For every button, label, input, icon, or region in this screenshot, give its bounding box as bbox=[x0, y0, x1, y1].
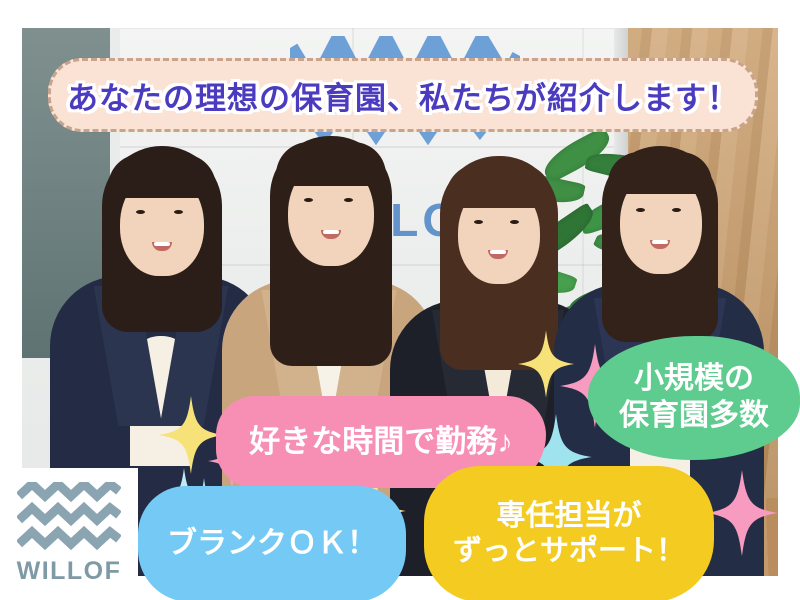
bubble-dedicated-support-line-2: ずっとサポート！ bbox=[453, 534, 685, 569]
person-2-eye bbox=[344, 198, 353, 202]
person-3-eye bbox=[474, 220, 483, 224]
person-3-bangs bbox=[446, 164, 552, 208]
brand-logo-text: WILLOF bbox=[17, 557, 122, 586]
bubble-blank-ok[interactable]: ブランクＯＫ！ bbox=[138, 486, 406, 600]
person-2-bangs bbox=[276, 142, 386, 186]
person-4-eye bbox=[636, 208, 645, 212]
ad-banner-canvas: WILLOF bbox=[0, 0, 800, 600]
headline-banner: あなたの理想の保育園、私たちが紹介します！ bbox=[48, 58, 758, 132]
bubble-flexible-hours-line-1: 好きな時間で勤務♪ bbox=[249, 423, 513, 461]
headline-text: あなたの理想の保育園、私たちが紹介します！ bbox=[67, 73, 739, 118]
person-1-eye bbox=[174, 210, 183, 214]
bubble-dedicated-support-line-1: 専任担当が bbox=[496, 499, 641, 534]
bubble-blank-ok-line-1: ブランクＯＫ！ bbox=[167, 526, 377, 563]
person-1-bangs bbox=[108, 154, 216, 198]
bubble-small-nursery-line-1: 小規模の bbox=[634, 361, 754, 398]
person-4-eye bbox=[672, 208, 681, 212]
person-1-eye bbox=[136, 210, 145, 214]
willof-zigzag-icon bbox=[17, 482, 121, 554]
person-3-eye bbox=[510, 220, 519, 224]
person-4-bangs bbox=[608, 152, 712, 194]
bubble-small-nursery[interactable]: 小規模の 保育園多数 bbox=[588, 336, 800, 460]
person-2-eye bbox=[304, 198, 313, 202]
brand-logo-box[interactable]: WILLOF bbox=[0, 468, 138, 600]
sparkle-pink-right bbox=[706, 470, 778, 556]
bubble-small-nursery-line-2: 保育園多数 bbox=[619, 398, 769, 435]
bubble-dedicated-support[interactable]: 専任担当が ずっとサポート！ bbox=[424, 466, 714, 600]
